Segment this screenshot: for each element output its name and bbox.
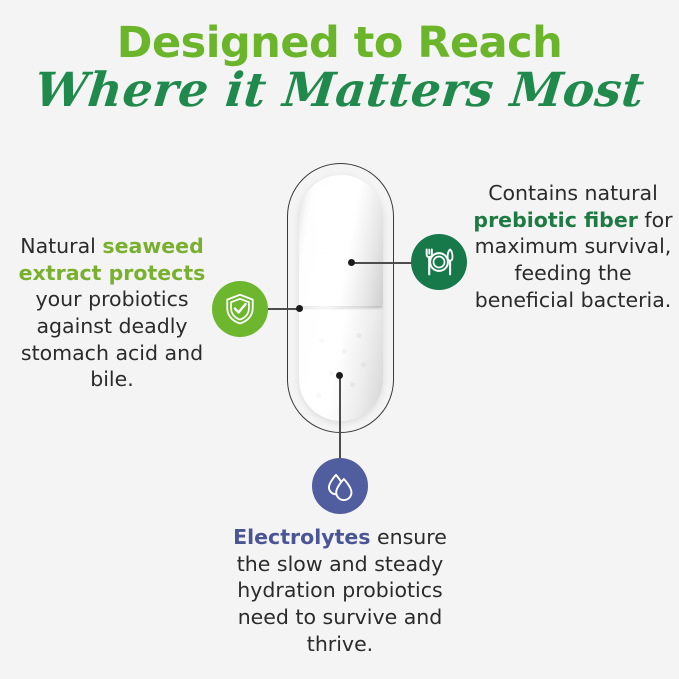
connector-dot-electrolytes — [336, 372, 343, 379]
headline-line-2: Where it Matters Most — [0, 67, 679, 114]
callout-prebiotic-text-before: Contains natural — [488, 181, 658, 205]
callout-electrolytes: Electrolytes ensure the slow and steady … — [215, 524, 465, 657]
capsule-cap — [299, 175, 383, 308]
connector-dot-prebiotic — [348, 259, 355, 266]
water-droplets-badge[interactable] — [312, 458, 368, 514]
capsule-cap-edge — [299, 306, 383, 310]
callout-prebiotic-highlight: prebiotic fiber — [473, 208, 637, 232]
page-title: Designed to Reach Where it Matters Most — [0, 22, 679, 114]
plate-fork-knife-icon — [422, 245, 456, 279]
callout-prebiotic: Contains natural prebiotic fiber for max… — [472, 180, 674, 313]
capsule-highlight — [313, 183, 333, 411]
shield-check-icon — [223, 292, 257, 326]
callout-electrolytes-highlight: Electrolytes — [233, 525, 370, 549]
connector-line-electrolytes — [339, 377, 340, 461]
water-droplets-icon — [323, 469, 357, 503]
infographic-canvas: Designed to Reach Where it Matters Most — [0, 0, 679, 679]
callout-seaweed-text-after: your probiotics against deadly stomach a… — [21, 287, 203, 391]
headline-line-1: Designed to Reach — [0, 22, 679, 65]
capsule-image — [299, 175, 383, 421]
connector-line-prebiotic — [352, 262, 413, 263]
callout-seaweed-text-before: Natural — [20, 234, 102, 258]
shield-check-badge[interactable] — [212, 281, 268, 337]
callout-seaweed: Natural seaweed extract protects your pr… — [6, 233, 218, 393]
plate-fork-knife-badge[interactable] — [411, 234, 467, 290]
connector-dot-seaweed — [296, 305, 303, 312]
